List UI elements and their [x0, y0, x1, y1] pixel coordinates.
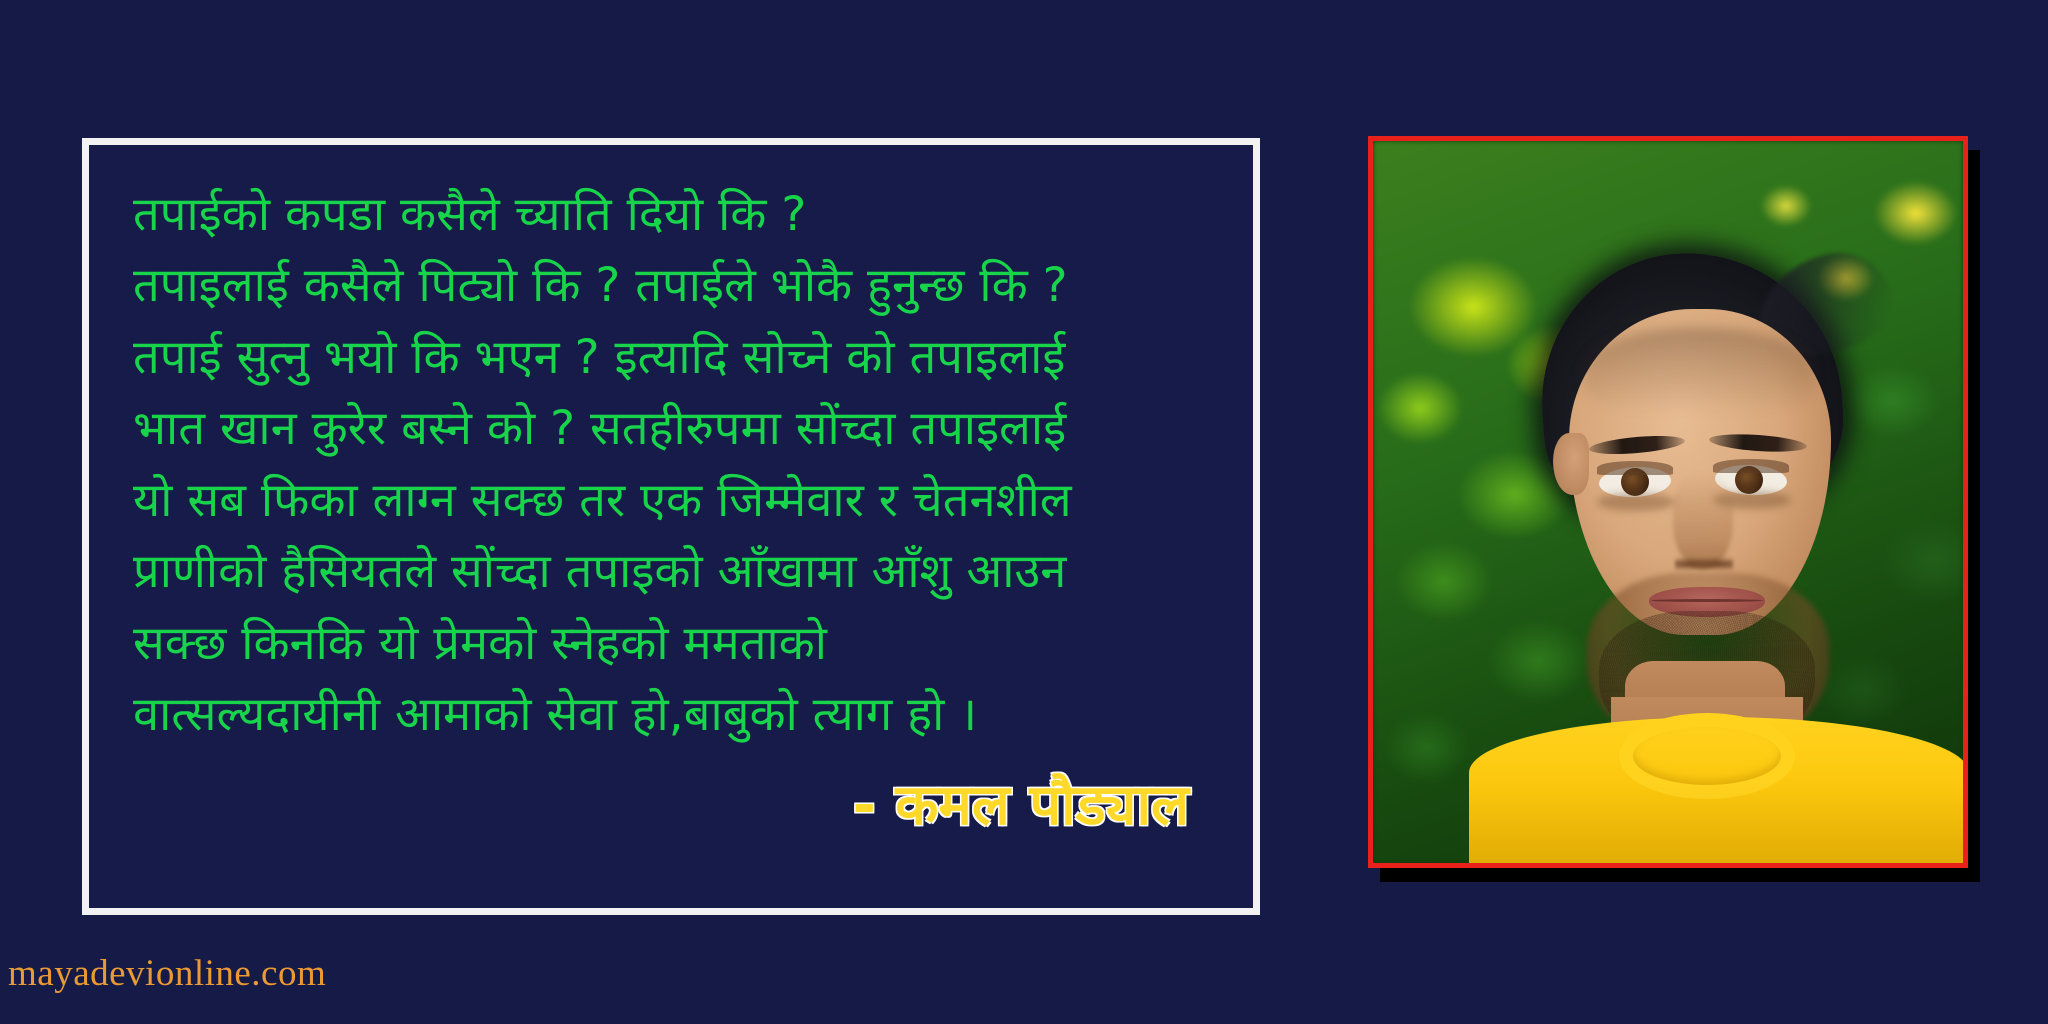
- quote-line-2: तपाइलाई कसैले पिट्यो कि ? तपाईले भोकै हु…: [115, 250, 1227, 321]
- quote-line-7: सक्छ किनकि यो प्रेमको स्नेहको ममताको: [115, 608, 1227, 679]
- lip-line: [1651, 599, 1763, 602]
- ear-shape: [1553, 433, 1589, 495]
- photo-frame: [1368, 136, 1968, 868]
- quote-line-3: तपाई सुत्नु भयो कि भएन ? इत्यादि सोच्ने …: [115, 322, 1227, 393]
- quote-card: तपाईको कपडा कसैले च्याति दियो कि ? तपाइल…: [82, 138, 1260, 915]
- quote-attribution: - कमल पौड्याल: [115, 765, 1227, 841]
- site-watermark: mayadevionline.com: [8, 952, 326, 995]
- quote-line-4: भात खान कुरेर बस्ने को ? सतहीरुपमा सोंच्…: [115, 393, 1227, 464]
- quote-poster: तपाईको कपडा कसैले च्याति दियो कि ? तपाइल…: [0, 0, 2048, 1024]
- undereye-left: [1597, 493, 1675, 511]
- quote-line-5: यो सब फिका लाग्न सक्छ तर एक जिम्मेवार र …: [115, 465, 1227, 536]
- quote-line-8: वात्सल्यदायीनी आमाको सेवा हो,बाबुको त्या…: [115, 679, 1227, 750]
- eyelid-right: [1713, 459, 1789, 473]
- quote-line-6: प्राणीको हैसियतले सोंच्दा तपाइको आँखामा …: [115, 536, 1227, 607]
- forehead-shading: [1583, 327, 1815, 413]
- portrait-photo: [1368, 136, 1980, 882]
- quote-line-1: तपाईको कपडा कसैले च्याति दियो कि ?: [115, 179, 1227, 250]
- eyelid-left: [1597, 461, 1673, 475]
- nostrils-shape: [1675, 555, 1733, 573]
- tshirt-shading: [1469, 781, 1968, 868]
